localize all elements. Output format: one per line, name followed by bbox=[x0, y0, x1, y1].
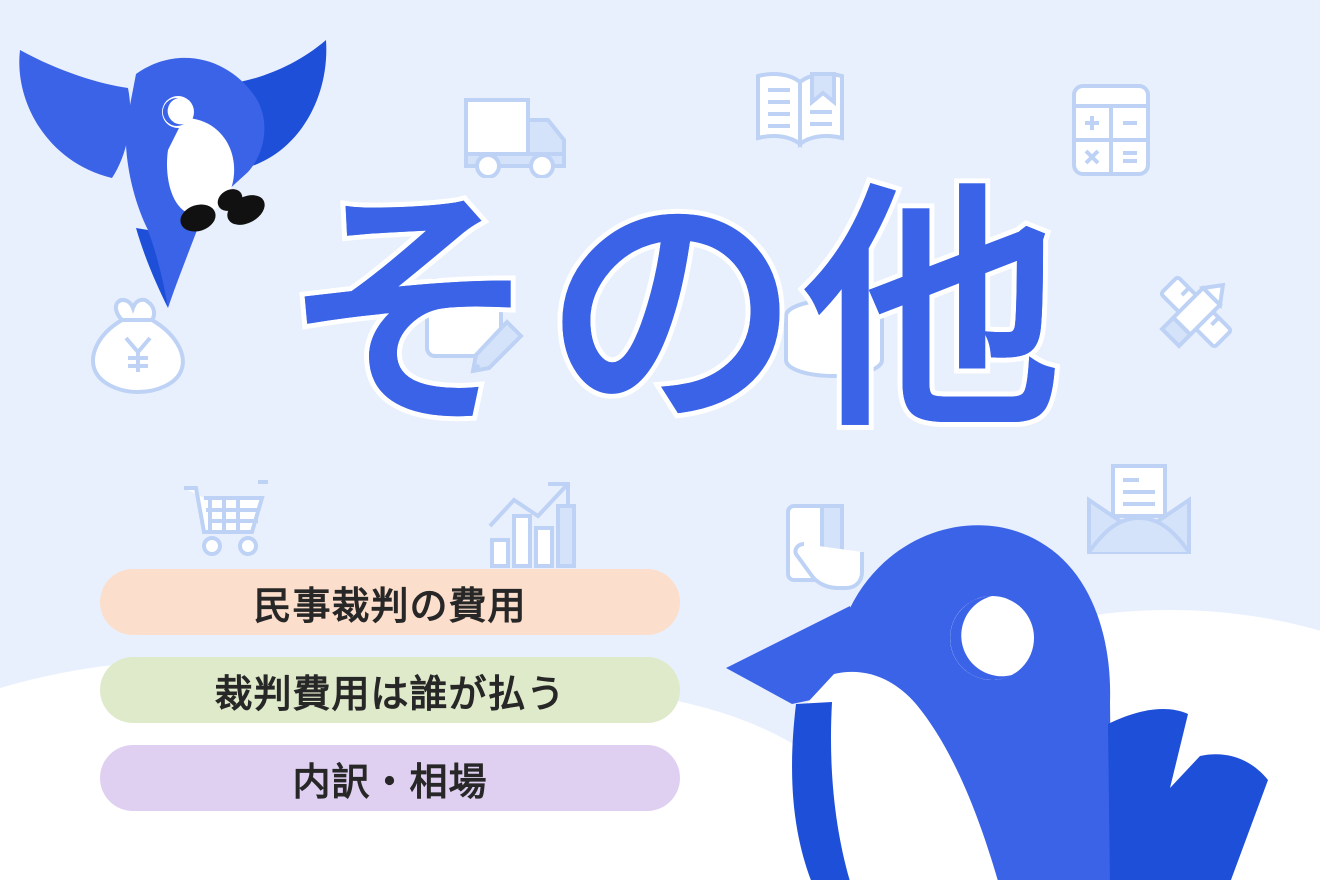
ruler-pencil-icon bbox=[1150, 266, 1242, 358]
calculator-icon bbox=[1071, 83, 1151, 177]
tag-pill-civil-trial-cost[interactable]: 民事裁判の費用 bbox=[100, 569, 680, 635]
truck-icon bbox=[462, 92, 574, 178]
tag-pill-breakdown-market-rate[interactable]: 内訳・相場 bbox=[100, 745, 680, 811]
tag-pill-label: 裁判費用は誰が払う bbox=[214, 663, 565, 718]
banner-canvas: その他 その他 民事裁判の費用 裁判費用は誰が払う 内訳・相場 bbox=[0, 0, 1320, 880]
penguin-mascot bbox=[700, 488, 1320, 880]
bar-chart-growth-icon bbox=[488, 478, 576, 570]
tag-pill-label: 内訳・相場 bbox=[292, 751, 487, 806]
page-title: その他 bbox=[283, 186, 1066, 441]
shopping-cart-icon bbox=[180, 478, 272, 558]
tag-pill-label: 民事裁判の費用 bbox=[253, 575, 526, 630]
tag-pill-who-pays[interactable]: 裁判費用は誰が払う bbox=[100, 657, 680, 723]
open-book-icon bbox=[754, 68, 846, 150]
